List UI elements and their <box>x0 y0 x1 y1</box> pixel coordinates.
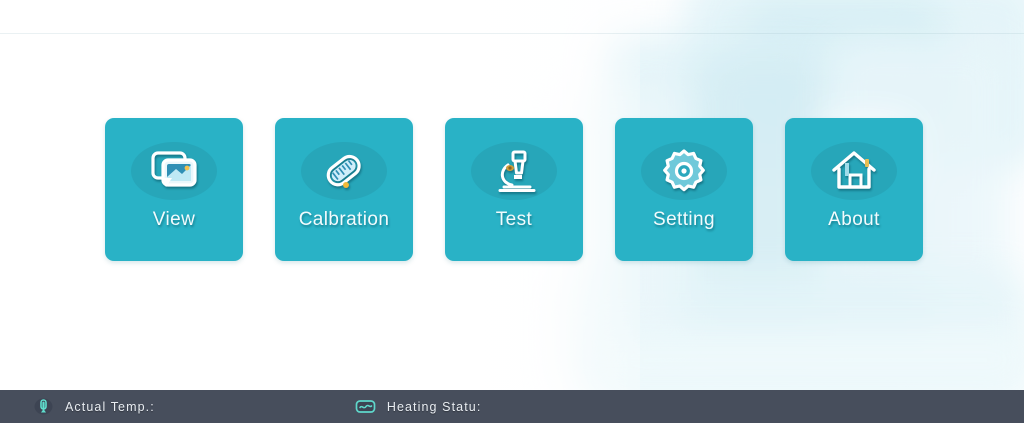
home-icon <box>826 145 882 197</box>
microscope-icon <box>486 145 542 197</box>
tile-test-icon-area <box>445 138 583 204</box>
status-heating-label: Heating Statu: <box>387 400 482 414</box>
app-window: View <box>0 0 1024 423</box>
tile-calbration-icon-area <box>275 138 413 204</box>
tile-about-label: About <box>785 209 923 231</box>
tile-calbration[interactable]: Calbration <box>275 118 413 261</box>
status-actual-temp: Actual Temp.: <box>33 390 159 423</box>
tile-setting[interactable]: Setting <box>615 118 753 261</box>
tile-about[interactable]: About <box>785 118 923 261</box>
status-heating: Heating Statu: <box>355 390 486 423</box>
tile-calbration-label: Calbration <box>275 209 413 231</box>
tile-setting-label: Setting <box>615 209 753 231</box>
windows-screens-icon <box>146 145 202 197</box>
tile-view[interactable]: View <box>105 118 243 261</box>
main-menu: View <box>105 118 923 261</box>
header-divider <box>0 33 1024 34</box>
tile-test[interactable]: Test <box>445 118 583 261</box>
tile-test-label: Test <box>445 209 583 231</box>
tile-about-icon-area <box>785 138 923 204</box>
heater-icon <box>355 397 376 416</box>
tile-setting-icon-area <box>615 138 753 204</box>
status-bar: Actual Temp.: Heating Statu: <box>0 390 1024 423</box>
thermometer-icon <box>33 397 54 416</box>
tile-view-label: View <box>105 209 243 231</box>
tile-view-icon-area <box>105 138 243 204</box>
thermometer-ruler-icon <box>316 145 372 197</box>
gear-icon <box>656 145 712 197</box>
status-actual-temp-label: Actual Temp.: <box>65 400 155 414</box>
